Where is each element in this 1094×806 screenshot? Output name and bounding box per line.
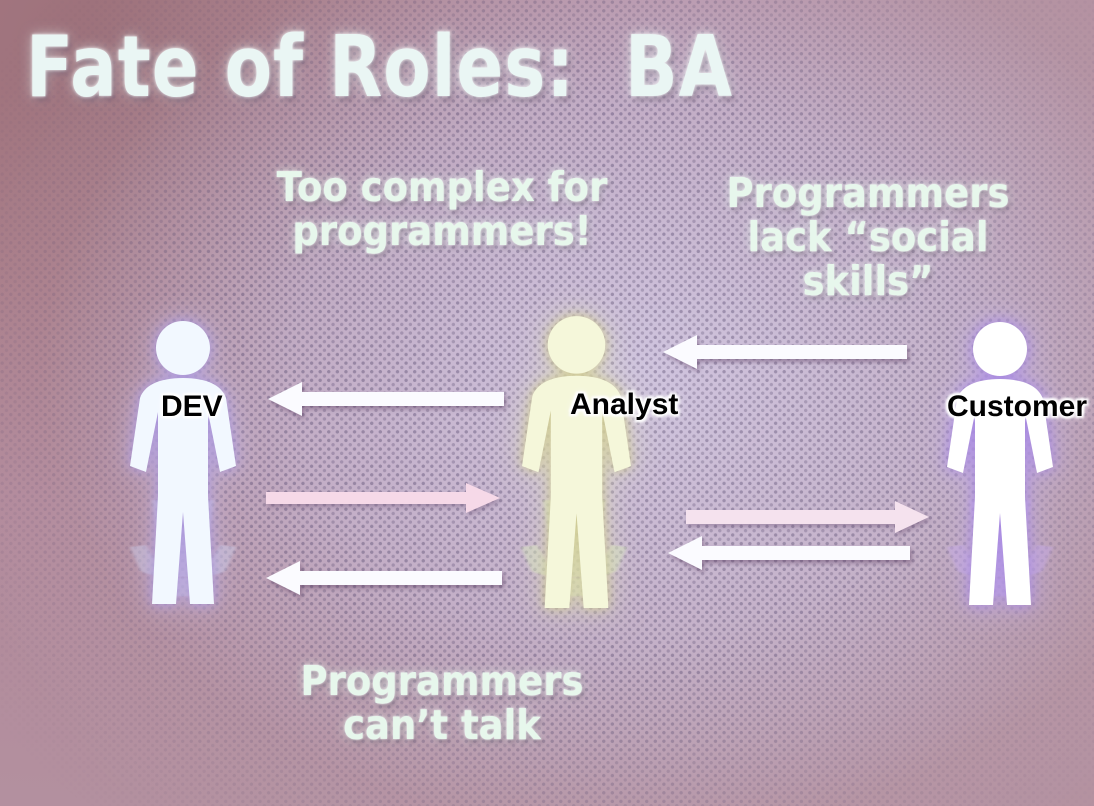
figure-label-analyst: Analyst bbox=[570, 388, 678, 422]
arrow-customer-to-analyst-bottom bbox=[668, 535, 910, 571]
caption-too-complex: Too complex for programmers! bbox=[252, 166, 632, 254]
figure-analyst: Analyst bbox=[519, 312, 634, 610]
arrow-analyst-to-dev-top bbox=[268, 381, 504, 417]
person-pictogram-dev bbox=[130, 321, 236, 604]
figure-customer: Customer bbox=[945, 316, 1055, 608]
arrow-analyst-to-customer bbox=[686, 500, 929, 534]
caption-cant-talk: Programmers can’t talk bbox=[262, 660, 622, 748]
caption-social-skills: Programmers lack “social skills” bbox=[700, 172, 1036, 304]
arrow-dev-to-analyst-middle bbox=[266, 483, 500, 513]
person-pictogram-analyst bbox=[522, 316, 631, 608]
slide-title: Fate of Roles: BA bbox=[26, 24, 733, 109]
presentation-slide: Fate of Roles: BA Too complex for progra… bbox=[0, 0, 1094, 806]
arrow-analyst-to-dev-bottom bbox=[266, 560, 502, 596]
person-pictogram-customer bbox=[947, 322, 1053, 605]
figure-dev: DEV bbox=[128, 316, 238, 606]
figure-label-dev: DEV bbox=[161, 390, 223, 424]
figure-label-customer: Customer bbox=[947, 390, 1087, 424]
arrow-customer-to-analyst-top bbox=[663, 334, 907, 370]
